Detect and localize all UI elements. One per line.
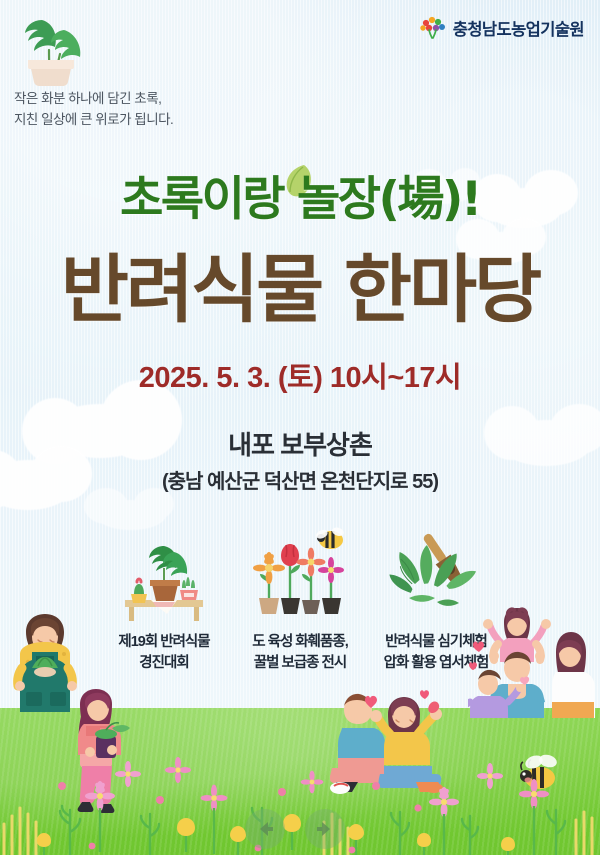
carousel-prev-button[interactable] bbox=[245, 809, 285, 849]
program-label: 반려식물 심기체험 압화 활용 엽서체험 bbox=[384, 632, 489, 673]
chevron-left-icon bbox=[253, 817, 277, 841]
flower-burst-logo-icon bbox=[420, 16, 446, 40]
poster-title: 반려식물 한마당 bbox=[0, 253, 600, 327]
monstera-plant-icon bbox=[12, 10, 90, 86]
grass-field bbox=[0, 708, 600, 855]
organization-logo: 충청남도농업기술원 bbox=[420, 16, 584, 40]
carousel-next-button[interactable] bbox=[305, 809, 345, 849]
venue-address: (충남 예산군 덕산면 온천단지로 55) bbox=[0, 472, 600, 492]
event-date: 2025. 5. 3. (토) 10시~17시 bbox=[0, 364, 600, 393]
venue-name: 내포 보부상촌 bbox=[0, 432, 600, 458]
program-card: 제19회 반려식물 경진대회 bbox=[103, 524, 225, 673]
tagline-line-1: 작은 화분 하나에 담긴 초록, bbox=[14, 88, 173, 109]
chevron-right-icon bbox=[313, 817, 337, 841]
program-label: 제19회 반려식물 경진대회 bbox=[118, 632, 209, 673]
event-poster: 충청남도농업기술원 작은 화분 하나에 담긴 초록, 지친 일상에 큰 위로가 … bbox=[0, 0, 600, 855]
program-label: 도 육성 화훼품종, 꿀벌 보급종 전시 bbox=[252, 632, 347, 673]
program-card: 도 육성 화훼품종, 꿀벌 보급종 전시 bbox=[239, 524, 361, 673]
potted-plants-on-table-icon bbox=[107, 524, 221, 624]
program-card: 반려식물 심기체험 압화 활용 엽서체험 bbox=[375, 524, 497, 673]
poster-subtitle: 초록이랑 놀장(場)! bbox=[0, 176, 600, 223]
flowers-and-bee-icon bbox=[243, 524, 357, 624]
fern-and-trowel-icon bbox=[379, 524, 493, 624]
tagline-line-2: 지친 일상에 큰 위로가 됩니다. bbox=[14, 109, 173, 130]
organization-name: 충청남도농업기술원 bbox=[453, 16, 584, 40]
program-list: 제19회 반려식물 경진대회 bbox=[0, 524, 600, 673]
tagline: 작은 화분 하나에 담긴 초록, 지친 일상에 큰 위로가 됩니다. bbox=[14, 88, 173, 131]
